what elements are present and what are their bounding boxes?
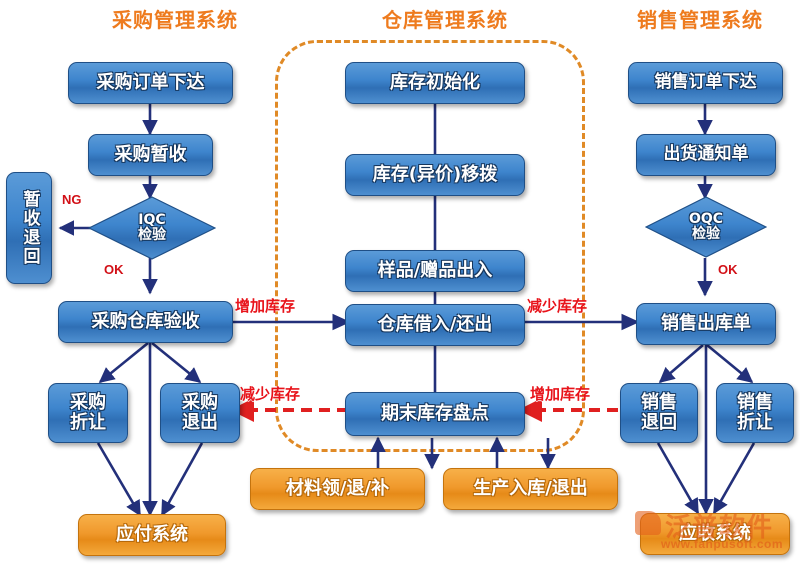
- label-increase-stock-sales-return: 增加库存: [530, 383, 590, 404]
- node-sales-discount[interactable]: 销售 折让: [716, 383, 794, 443]
- node-purchase-discount-label: 采购 折让: [70, 393, 106, 433]
- label-ok-purchase: OK: [104, 262, 124, 277]
- column-title-warehouse: 仓库管理系统: [330, 4, 560, 33]
- node-production-receipt-return[interactable]: 生产入库/退出: [443, 468, 618, 510]
- node-sales-return[interactable]: 销售 退回: [620, 383, 698, 443]
- label-ok-sales: OK: [718, 262, 738, 277]
- label-ng: NG: [62, 192, 82, 207]
- iqc-label-line2: 检验: [138, 228, 166, 243]
- node-sales-return-label: 销售 退回: [641, 393, 677, 433]
- node-oqc-label: OQC 检验: [689, 212, 723, 241]
- node-purchase-warehouse-acceptance[interactable]: 采购仓库验收: [58, 301, 233, 343]
- column-title-sales: 销售管理系统: [605, 4, 795, 33]
- label-decrease-stock-purchase-return: 减少库存: [240, 383, 300, 404]
- oqc-label-line2: 检验: [689, 227, 723, 242]
- node-oqc-inspection[interactable]: OQC 检验: [645, 196, 767, 258]
- node-temp-receipt-return[interactable]: 暂收退回: [6, 172, 52, 284]
- node-accounts-payable-system[interactable]: 应付系统: [78, 514, 226, 556]
- iqc-label-line1: IQC: [138, 213, 166, 228]
- node-purchase-temp-receipt[interactable]: 采购暂收: [88, 134, 213, 176]
- node-purchase-return-label: 采购 退出: [182, 393, 218, 433]
- column-title-purchase: 采购管理系统: [60, 4, 290, 33]
- node-accounts-receivable-system[interactable]: 应收系统: [640, 513, 790, 555]
- node-stock-initialization[interactable]: 库存初始化: [345, 62, 525, 104]
- node-iqc-label: IQC 检验: [138, 213, 166, 242]
- label-decrease-stock-sales: 减少库存: [527, 295, 587, 316]
- node-stock-transfer[interactable]: 库存(异价)移拨: [345, 154, 525, 196]
- label-increase-stock-purchase: 增加库存: [235, 295, 295, 316]
- node-sales-order-release[interactable]: 销售订单下达: [628, 62, 783, 104]
- node-period-end-stocktaking[interactable]: 期末库存盘点: [345, 392, 525, 436]
- oqc-label-line1: OQC: [689, 212, 723, 227]
- node-sample-gift-inout[interactable]: 样品/赠品出入: [345, 250, 525, 292]
- node-purchase-discount[interactable]: 采购 折让: [48, 383, 128, 443]
- node-shipping-notice[interactable]: 出货通知单: [636, 134, 776, 176]
- flowchart-canvas: 采购管理系统 仓库管理系统 销售管理系统: [0, 0, 800, 566]
- node-sales-discount-label: 销售 折让: [737, 393, 773, 433]
- node-sales-outbound[interactable]: 销售出库单: [636, 303, 776, 345]
- node-purchase-return[interactable]: 采购 退出: [160, 383, 240, 443]
- node-purchase-order-release[interactable]: 采购订单下达: [68, 62, 233, 104]
- node-warehouse-borrow-return[interactable]: 仓库借入/还出: [345, 304, 525, 346]
- node-material-issue-return[interactable]: 材料领/退/补: [250, 468, 425, 510]
- node-iqc-inspection[interactable]: IQC 检验: [88, 196, 216, 260]
